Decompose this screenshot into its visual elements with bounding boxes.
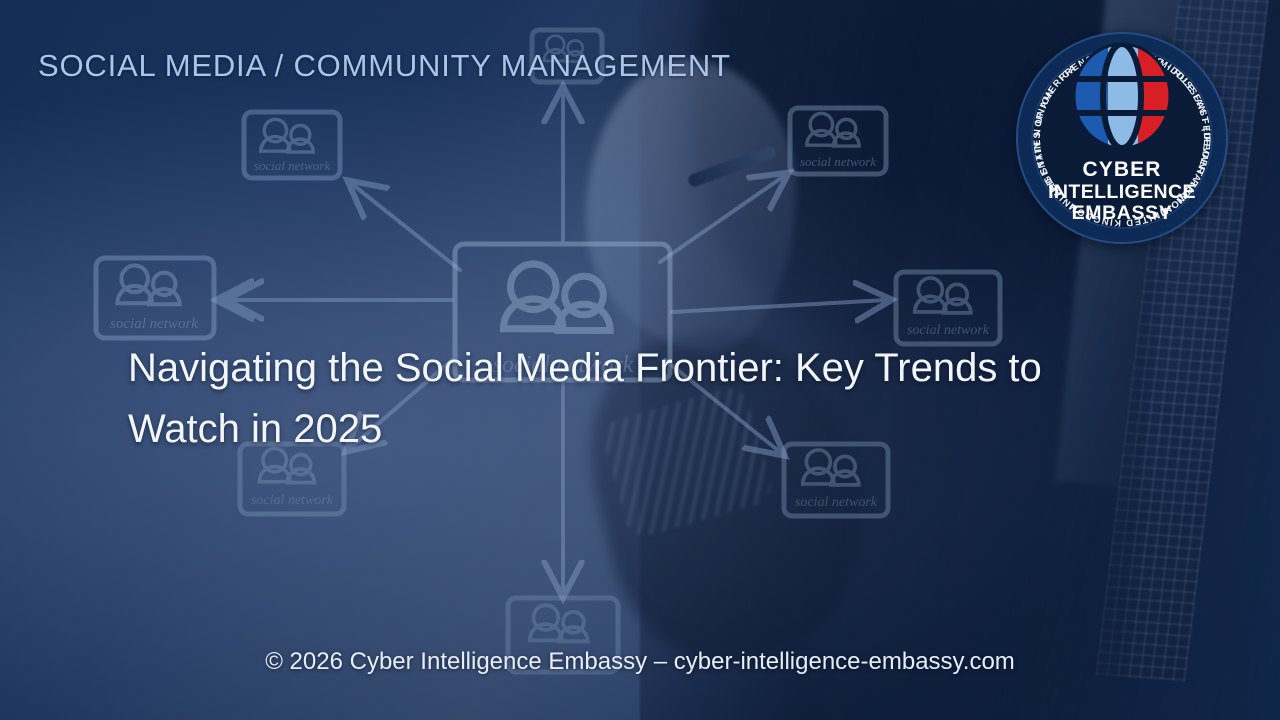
node-upper-right: social network [790,108,886,174]
logo-line-3: EMBASSY [1072,202,1173,224]
arrow-to-upper-left [352,184,460,270]
arrow-to-mid-right [672,300,886,312]
svg-text:social network: social network [254,158,330,173]
footer-copyright: © 2026 Cyber Intelligence Embassy – cybe… [0,648,1280,676]
svg-text:social network: social network [907,323,990,338]
node-upper-left: social network [244,112,340,178]
svg-text:social network: social network [795,495,878,510]
section-eyebrow: SOCIAL MEDIA / COMMUNITY MANAGEMENT [38,48,731,84]
node-mid-right: social network [896,272,1000,344]
cyber-intelligence-embassy-logo: EUROPEAN UNION · FRENCH REPUBLIC · RUSSI… [1014,30,1230,246]
arrow-to-upper-right [660,176,784,262]
svg-text:social network: social network [251,493,334,508]
svg-text:social network: social network [110,316,198,332]
slide-root: social network social network [0,0,1280,720]
svg-text:social network: social network [800,154,876,169]
node-mid-left: social network [96,258,214,338]
logo-line-1: CYBER [1082,158,1161,181]
logo-line-2: INTELLIGENCE [1048,181,1196,203]
page-title: Navigating the Social Media Frontier: Ke… [128,338,1128,460]
